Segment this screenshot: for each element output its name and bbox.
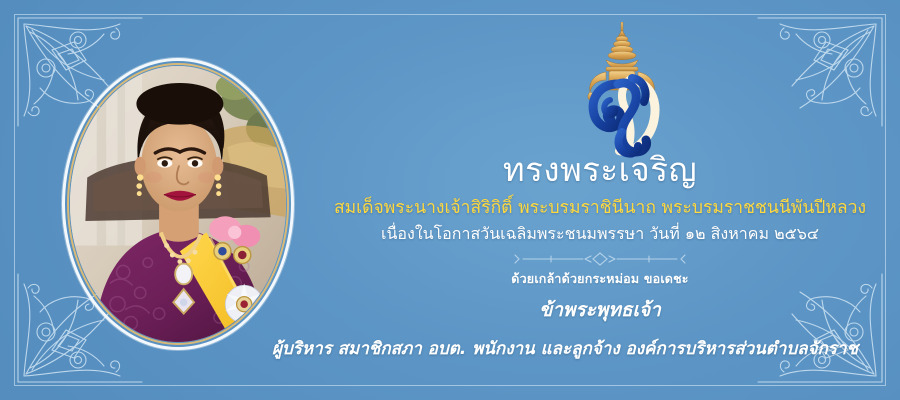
royal-cypher-emblem-icon <box>562 22 682 167</box>
greeting-title: ทรงพระเจริญ <box>300 150 900 190</box>
royal-birthday-banner: ทรงพระเจริญ สมเด็จพระนางเจ้าสิริกิติ์ พร… <box>0 0 900 400</box>
royal-name-line: สมเด็จพระนางเจ้าสิริกิติ์ พระบรมราชินีนา… <box>300 195 900 221</box>
signature-line: ข้าพระพุทธเจ้า <box>300 296 900 324</box>
occasion-line: เนื่องในโอกาสวันเฉลิมพระชนมพรรษา วันที่ … <box>300 222 900 246</box>
organization-line: ผู้บริหาร สมาชิกสภา อบต. พนักงาน และลูกจ… <box>255 336 875 362</box>
royal-portrait <box>62 58 294 350</box>
humble-closing-line: ด้วยเกล้าด้วยกระหม่อม ขอเดชะ <box>300 270 900 288</box>
corner-ornament-top-right <box>756 16 884 128</box>
decorative-divider <box>505 252 695 266</box>
greeting-text-block: ทรงพระเจริญ สมเด็จพระนางเจ้าสิริกิติ์ พร… <box>300 150 900 324</box>
portrait-white-ring <box>62 58 294 350</box>
